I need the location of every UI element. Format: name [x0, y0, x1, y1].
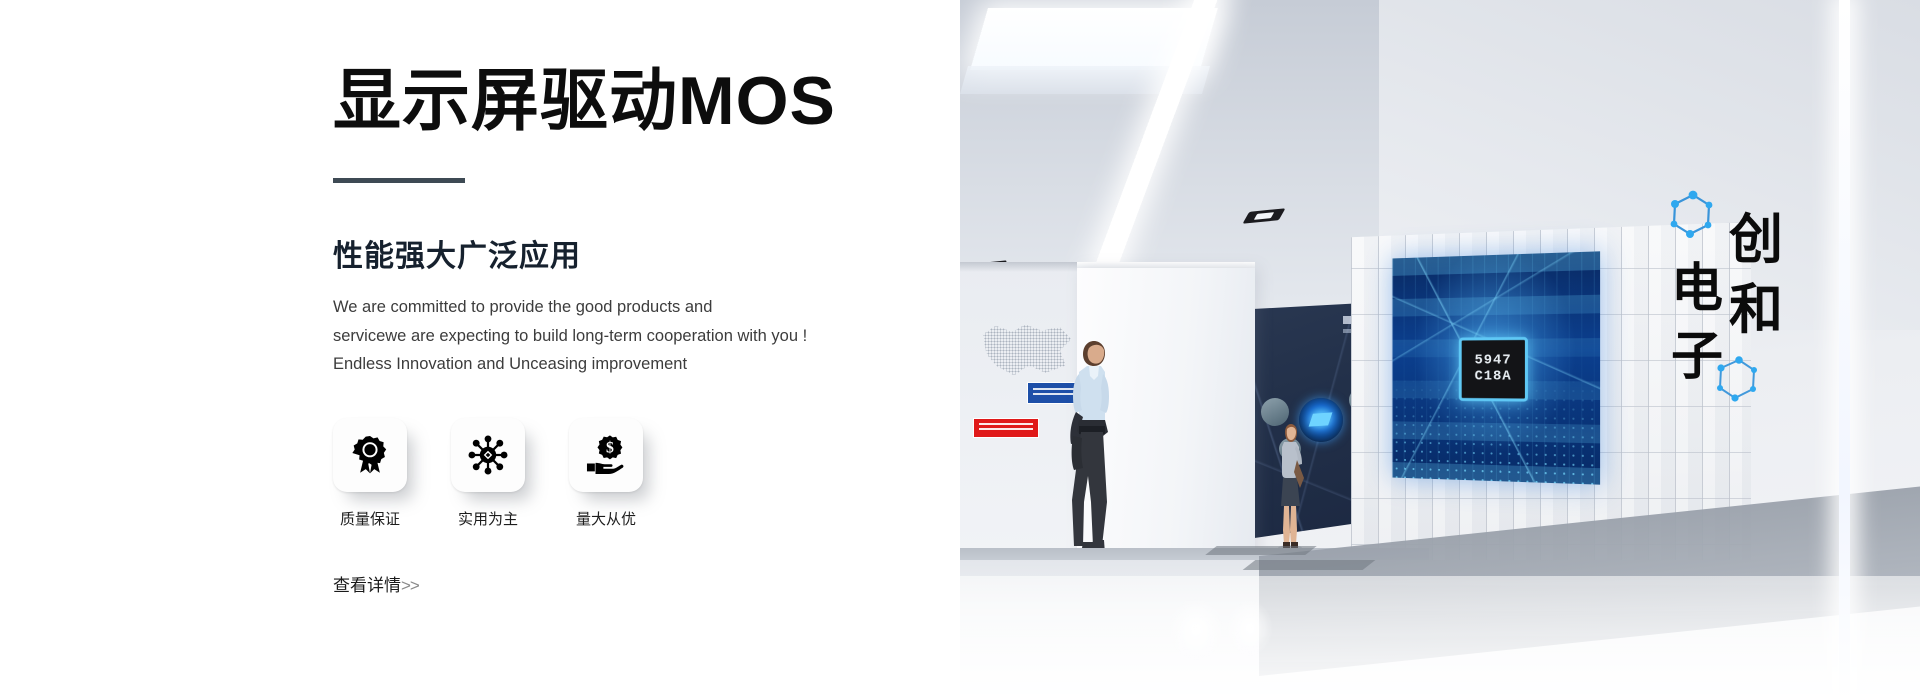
floor-light-reflection [1227, 600, 1273, 656]
floor-gloss-reflection [959, 576, 1920, 700]
feature-list: 质量保证 [333, 418, 933, 529]
description-line-2: servicewe are expecting to build long-te… [333, 322, 933, 350]
award-ribbon-icon [349, 434, 391, 476]
feature-icon-box: $ [569, 418, 643, 492]
feature-label: 质量保证 [333, 508, 407, 529]
page-title: 显示屏驱动MOS [333, 62, 933, 140]
banner-content: 显示屏驱动MOS 性能强大广泛应用 We are committed to pr… [333, 0, 933, 596]
floor-shadow [1205, 546, 1317, 555]
feature-icon-box [451, 418, 525, 492]
wall-signage-chuanghe-dianzi: 电 子 创 和 [1649, 178, 1809, 418]
person-man [1059, 334, 1123, 578]
double-chevron-right-icon: >> [401, 576, 419, 595]
view-details-label: 查看详情 [333, 576, 401, 595]
hand-money-icon: $ [585, 434, 627, 476]
banner-text-panel: 显示屏驱动MOS 性能强大广泛应用 We are committed to pr… [0, 0, 960, 700]
person-woman [1273, 424, 1307, 552]
chip-code-line-2: C18A [1475, 369, 1512, 385]
sign-char-zi: 子 [1671, 328, 1723, 386]
banner-description: We are committed to provide the good pro… [333, 293, 933, 378]
banner-subtitle: 性能强大广泛应用 [333, 231, 933, 275]
red-wall-sign [973, 418, 1039, 438]
sign-char-chuang: 创 [1729, 210, 1783, 270]
chip-graphic: 5947 C18A [1459, 337, 1528, 402]
wall-circle-photo [1261, 398, 1289, 426]
led-display-screen: 5947 C18A [1392, 251, 1600, 484]
chip-code-line-1: 5947 [1475, 354, 1512, 370]
description-line-1: We are committed to provide the good pro… [333, 293, 933, 321]
view-details-link[interactable]: 查看详情>> [333, 571, 419, 596]
showroom-photo: 5947 C18A [959, 0, 1920, 700]
feature-item-volume-discount[interactable]: $ 量大从优 [569, 418, 643, 529]
feature-item-practical[interactable]: 实用为主 [451, 418, 525, 529]
feature-label: 实用为主 [451, 508, 525, 529]
description-line-3: Endless Innovation and Unceasing improve… [333, 350, 933, 378]
floor-shadow [1243, 560, 1376, 570]
hero-banner: 显示屏驱动MOS 性能强大广泛应用 We are committed to pr… [0, 0, 1920, 700]
svg-text:$: $ [606, 440, 614, 457]
sign-char-dian: 电 [1671, 260, 1723, 318]
vertical-light-strip [1839, 0, 1850, 700]
sign-char-he: 和 [1729, 280, 1783, 340]
network-hub-icon [467, 434, 509, 476]
feature-label: 量大从优 [569, 508, 643, 529]
title-divider [333, 178, 465, 183]
feature-item-quality[interactable]: 质量保证 [333, 418, 407, 529]
floor-light-reflection [1169, 598, 1223, 660]
feature-icon-box [333, 418, 407, 492]
